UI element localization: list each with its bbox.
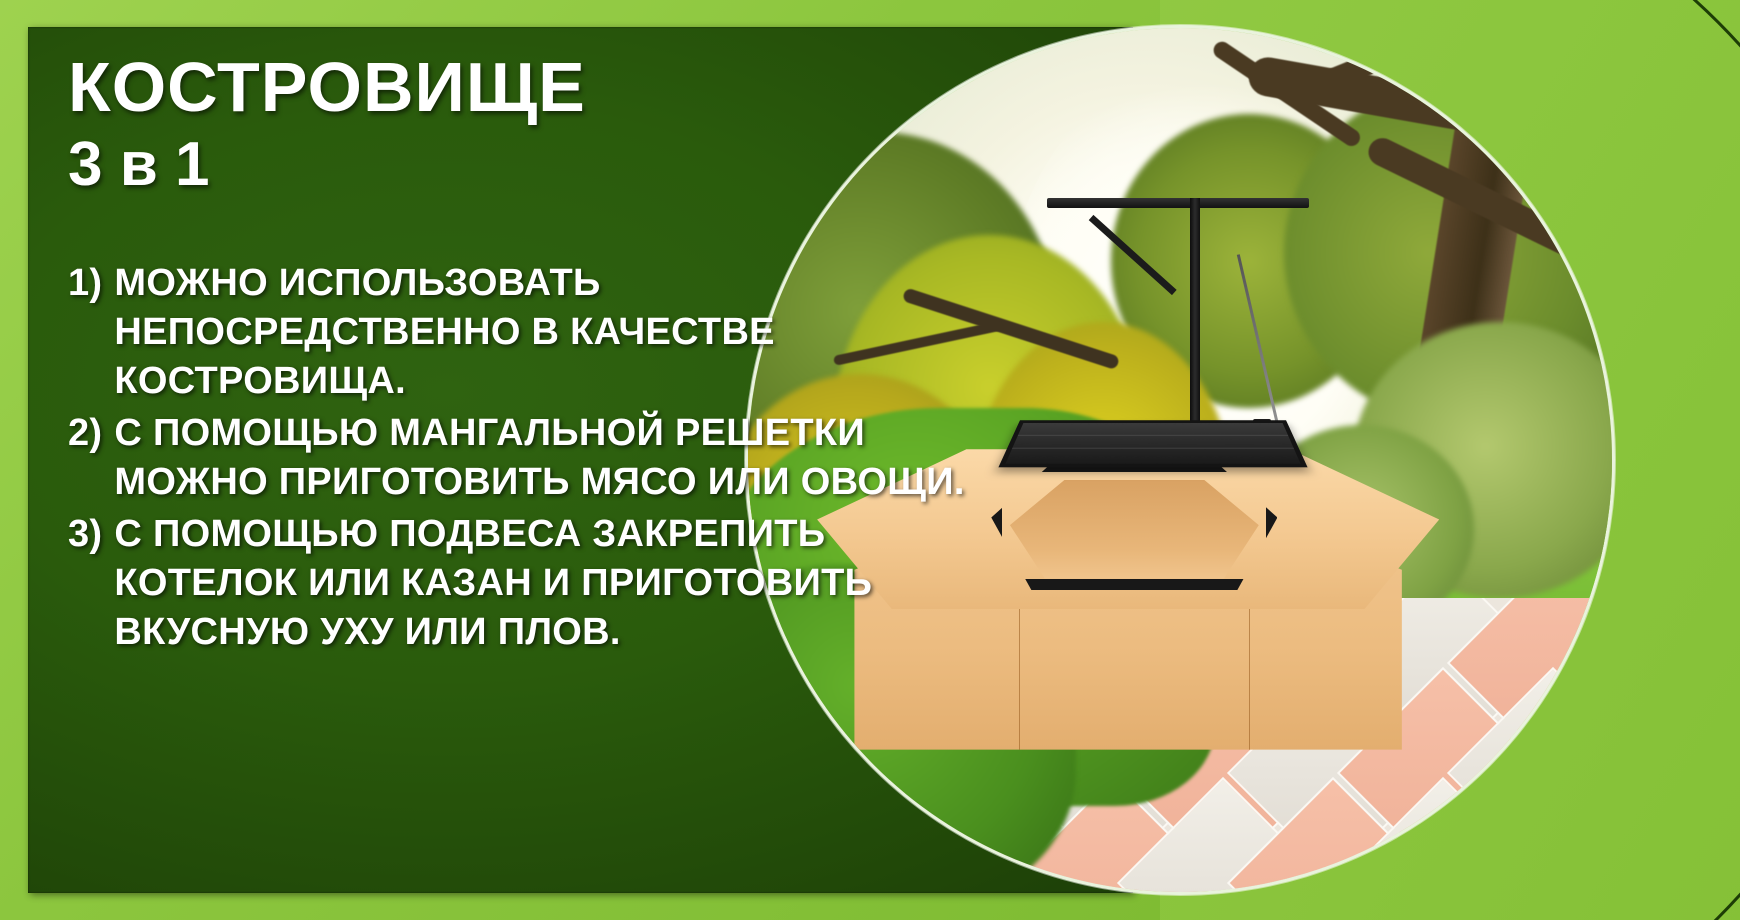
- list-item-text: С ПОМОЩЬЮ МАНГАЛЬНОЙ РЕШЕТКИ МОЖНО ПРИГО…: [114, 409, 968, 508]
- grill-plate: [998, 420, 1307, 467]
- list-item-marker: 2): [68, 409, 114, 508]
- text-column: КОСТРОВИЩЕ 3 в 1 1) МОЖНО ИСПОЛЬЗОВАТЬ Н…: [68, 52, 968, 660]
- list-item-text: МОЖНО ИСПОЛЬЗОВАТЬ НЕПОСРЕДСТВЕННО В КАЧ…: [114, 259, 968, 407]
- page-title: КОСТРОВИЩЕ: [68, 52, 968, 123]
- fire-pit-metal-ring: [991, 461, 1277, 590]
- grill-plate-line: [1018, 435, 1289, 436]
- poster-root: КОСТРОВИЩЕ 3 в 1 1) МОЖНО ИСПОЛЬЗОВАТЬ Н…: [0, 0, 1740, 920]
- list-item-text: С ПОМОЩЬЮ ПОДВЕСА ЗАКРЕПИТЬ КОТЕЛОК ИЛИ …: [114, 510, 968, 658]
- page-subtitle: 3 в 1: [68, 129, 968, 200]
- list-item-marker: 1): [68, 259, 114, 407]
- list-item-marker: 3): [68, 510, 114, 658]
- list-item: 2) С ПОМОЩЬЮ МАНГАЛЬНОЙ РЕШЕТКИ МОЖНО ПР…: [68, 409, 968, 508]
- hanging-arm: [1047, 198, 1308, 208]
- feature-list: 1) МОЖНО ИСПОЛЬЗОВАТЬ НЕПОСРЕДСТВЕННО В …: [68, 259, 968, 658]
- list-item: 3) С ПОМОЩЬЮ ПОДВЕСА ЗАКРЕПИТЬ КОТЕЛОК И…: [68, 510, 968, 658]
- grill-plate-line: [1012, 447, 1294, 448]
- list-item: 1) МОЖНО ИСПОЛЬЗОВАТЬ НЕПОСРЕДСТВЕННО В …: [68, 259, 968, 407]
